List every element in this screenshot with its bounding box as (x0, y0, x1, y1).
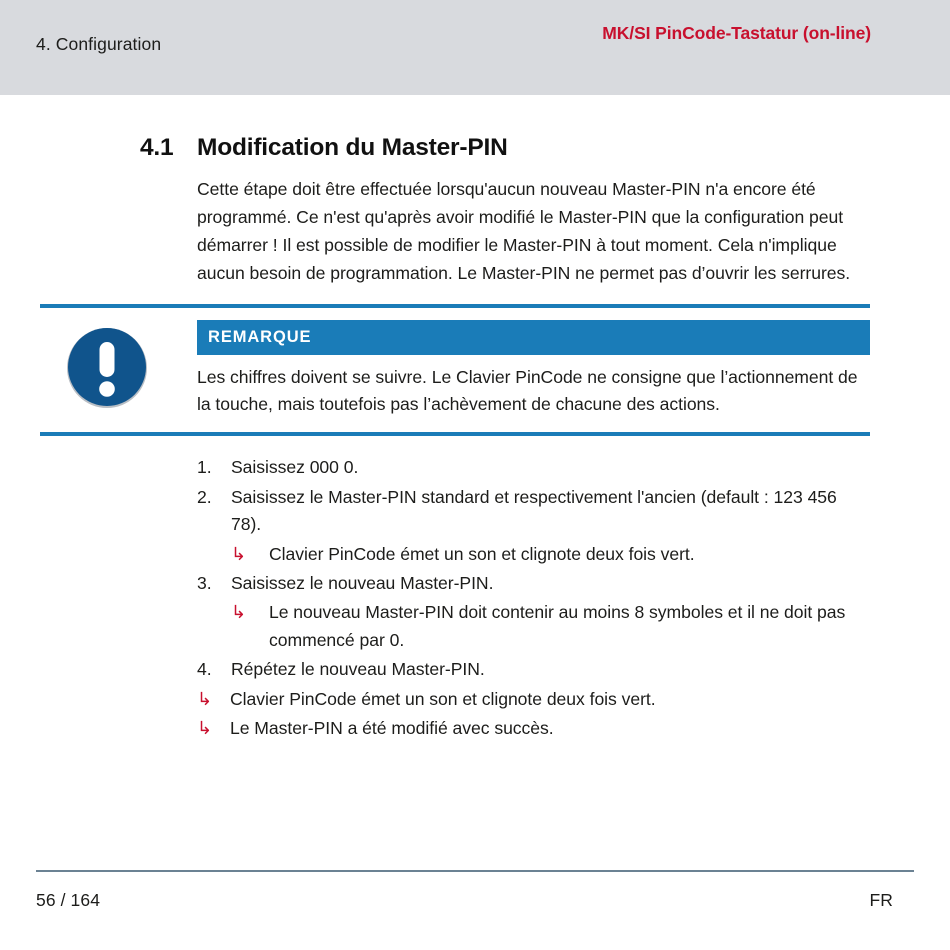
section-heading: 4.1 Modification du Master-PIN (0, 133, 950, 162)
list-marker: 4. (197, 656, 223, 683)
page-header: 4. Configuration MK/SI PinCode-Tastatur … (0, 0, 950, 95)
list-item-text: Le nouveau Master-PIN doit contenir au m… (269, 602, 845, 649)
header-product-title: MK/SI PinCode-Tastatur (on-line) (571, 21, 871, 46)
list-item: ↳ Le nouveau Master-PIN doit contenir au… (231, 599, 870, 654)
list-item: ↳ Le Master-PIN a été modifié avec succè… (197, 715, 870, 742)
note-title: REMARQUE (197, 320, 870, 354)
result-arrow-icon: ↳ (197, 715, 223, 742)
list-marker: 3. (197, 570, 223, 597)
list-item: 3. Saisissez le nouveau Master-PIN. (197, 570, 870, 597)
section-number: 4.1 (140, 133, 173, 162)
page-number: 56 / 164 (36, 890, 100, 911)
list-marker: 2. (197, 484, 223, 511)
footer-divider (36, 870, 914, 872)
result-arrow-icon: ↳ (197, 686, 223, 713)
page-content: 4.1 Modification du Master-PIN Cette éta… (0, 95, 950, 745)
procedure-list: 1. Saisissez 000 0. 2. Saisissez le Mast… (197, 454, 870, 742)
list-marker: 1. (197, 454, 223, 481)
list-item: 4. Répétez le nouveau Master-PIN. (197, 656, 870, 683)
list-item-text: Saisissez 000 0. (231, 457, 358, 477)
note-box: REMARQUE Les chiffres doivent se suivre.… (40, 304, 870, 436)
list-item-text: Saisissez le nouveau Master-PIN. (231, 573, 493, 593)
list-item-text: Clavier PinCode émet un son et clignote … (230, 689, 656, 709)
section-paragraph: Cette étape doit être effectuée lorsqu'a… (197, 176, 870, 287)
result-arrow-icon: ↳ (231, 599, 261, 626)
list-item-text: Répétez le nouveau Master-PIN. (231, 659, 485, 679)
list-item: 1. Saisissez 000 0. (197, 454, 870, 481)
header-chapter-label: 4. Configuration (36, 34, 161, 55)
list-item: 2. Saisissez le Master-PIN standard et r… (197, 484, 870, 539)
page-footer: 56 / 164 FR (36, 870, 914, 928)
result-arrow-icon: ↳ (231, 541, 261, 568)
exclamation-mark-circle-icon (65, 326, 149, 410)
list-item: ↳ Clavier PinCode émet un son et clignot… (231, 541, 870, 568)
list-item-text: Clavier PinCode émet un son et clignote … (269, 544, 695, 564)
language-code: FR (869, 890, 893, 911)
list-item: ↳ Clavier PinCode émet un son et clignot… (197, 686, 870, 713)
list-item-text: Le Master-PIN a été modifié avec succès. (230, 718, 554, 738)
note-content: REMARQUE Les chiffres doivent se suivre.… (197, 320, 870, 418)
list-item-text: Saisissez le Master-PIN standard et resp… (231, 487, 837, 534)
section-title: Modification du Master-PIN (197, 133, 870, 162)
note-text: Les chiffres doivent se suivre. Le Clavi… (197, 364, 870, 419)
